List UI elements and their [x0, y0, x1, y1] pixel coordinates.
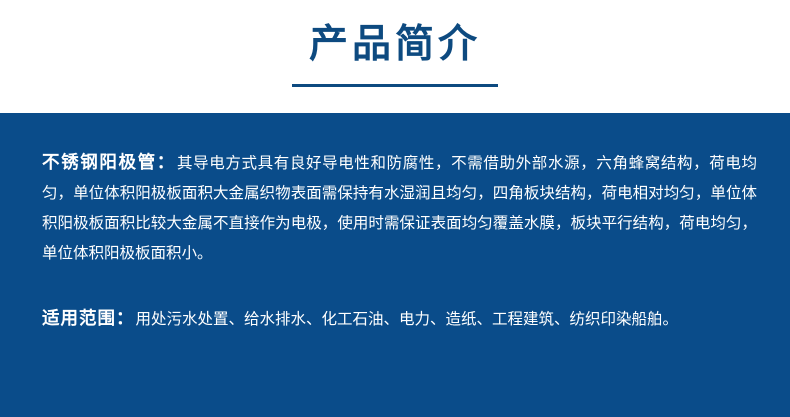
application-scope-body-text: 用处污水处置、给水排水、化工石油、电力、造纸、工程建筑、纺织印染船舶。	[136, 311, 679, 328]
page-title: 产品简介	[309, 22, 481, 68]
application-scope-paragraph: 适用范围：用处污水处置、给水排水、化工石油、电力、造纸、工程建筑、纺织印染船舶。	[42, 303, 757, 335]
application-scope-lead-label: 适用范围	[42, 308, 116, 328]
header-section: 产品简介	[0, 0, 790, 113]
content-panel: 不锈钢阳极管：其导电方式具有良好导电性和防腐性，不需借助外部水源，六角蜂窝结构，…	[0, 113, 790, 417]
product-intro-paragraph: 不锈钢阳极管：其导电方式具有良好导电性和防腐性，不需借助外部水源，六角蜂窝结构，…	[42, 147, 757, 269]
product-intro-banner: 产品简介 不锈钢阳极管：其导电方式具有良好导电性和防腐性，不需借助外部水源，六角…	[0, 0, 790, 417]
title-underline-divider	[292, 84, 498, 87]
application-scope-lead-colon: ：	[116, 308, 134, 328]
product-intro-lead-colon: ：	[157, 152, 175, 172]
product-intro-lead-label: 不锈钢阳极管	[42, 152, 157, 172]
section-application-scope: 适用范围：用处污水处置、给水排水、化工石油、电力、造纸、工程建筑、纺织印染船舶。	[42, 303, 757, 335]
section-product-intro: 不锈钢阳极管：其导电方式具有良好导电性和防腐性，不需借助外部水源，六角蜂窝结构，…	[42, 147, 757, 269]
